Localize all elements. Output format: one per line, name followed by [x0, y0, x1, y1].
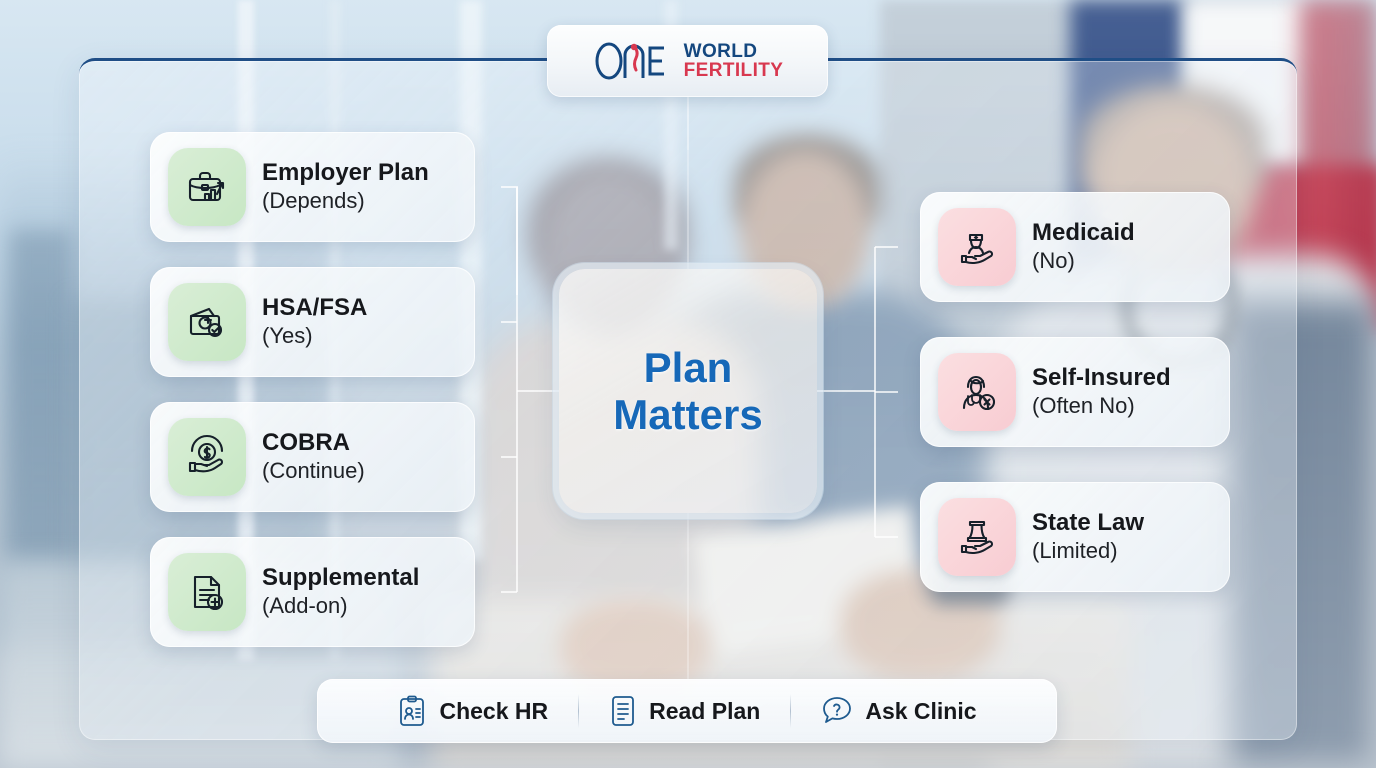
card-subtitle: (Yes) — [262, 323, 367, 349]
logo-word-world: WORLD — [684, 42, 784, 61]
question-bubble-icon — [821, 695, 853, 727]
wallet-check-icon — [168, 283, 246, 361]
card-subtitle: (Limited) — [1032, 538, 1144, 564]
card-self-insured[interactable]: Self-Insured (Often No) — [920, 337, 1230, 447]
doctor-denied-icon — [938, 353, 1016, 431]
briefcase-chart-icon — [168, 148, 246, 226]
action-label: Check HR — [439, 698, 548, 725]
card-hsa-fsa[interactable]: HSA/FSA (Yes) — [150, 267, 475, 377]
card-subtitle: (Add-on) — [262, 593, 419, 619]
card-subtitle: (Depends) — [262, 188, 429, 214]
action-check-hr[interactable]: Check HR — [367, 695, 578, 727]
card-medicaid[interactable]: Medicaid (No) — [920, 192, 1230, 302]
card-subtitle: (Continue) — [262, 458, 365, 484]
card-text: Supplemental (Add-on) — [262, 565, 419, 619]
action-ask-clinic[interactable]: Ask Clinic — [791, 695, 1006, 727]
card-supplemental[interactable]: Supplemental (Add-on) — [150, 537, 475, 647]
card-text: Employer Plan (Depends) — [262, 160, 429, 214]
logo-word-fertility: FERTILITY — [684, 61, 784, 80]
card-subtitle: (Often No) — [1032, 393, 1171, 419]
card-text: Self-Insured (Often No) — [1032, 365, 1171, 419]
card-title: Employer Plan — [262, 160, 429, 187]
card-title: COBRA — [262, 430, 365, 457]
action-read-plan[interactable]: Read Plan — [579, 695, 790, 727]
hub-line-1: Plan — [613, 344, 762, 391]
clipboard-person-icon — [397, 695, 427, 727]
card-title: Supplemental — [262, 565, 419, 592]
card-text: State Law (Limited) — [1032, 510, 1144, 564]
document-plus-icon — [168, 553, 246, 631]
card-cobra[interactable]: COBRA (Continue) — [150, 402, 475, 512]
card-text: Medicaid (No) — [1032, 220, 1135, 274]
card-title: Self-Insured — [1032, 365, 1171, 392]
card-text: HSA/FSA (Yes) — [262, 295, 367, 349]
card-title: Medicaid — [1032, 220, 1135, 247]
hub-text: Plan Matters — [613, 344, 762, 438]
one-monogram-icon — [592, 38, 688, 84]
hub-line-2: Matters — [613, 391, 762, 438]
action-bar: Check HR Read Plan Ask Clinic — [317, 679, 1057, 743]
nurse-hand-icon — [938, 208, 1016, 286]
brand-logo-badge: WORLD FERTILITY — [547, 25, 828, 97]
card-state-law[interactable]: State Law (Limited) — [920, 482, 1230, 592]
card-text: COBRA (Continue) — [262, 430, 365, 484]
action-label: Ask Clinic — [865, 698, 976, 725]
hand-coin-icon — [168, 418, 246, 496]
card-employer-plan[interactable]: Employer Plan (Depends) — [150, 132, 475, 242]
center-hub-plan-matters: Plan Matters — [559, 269, 817, 513]
hand-gavel-icon — [938, 498, 1016, 576]
card-subtitle: (No) — [1032, 248, 1135, 274]
card-title: HSA/FSA — [262, 295, 367, 322]
action-label: Read Plan — [649, 698, 760, 725]
document-lines-icon — [609, 695, 637, 727]
card-title: State Law — [1032, 510, 1144, 537]
